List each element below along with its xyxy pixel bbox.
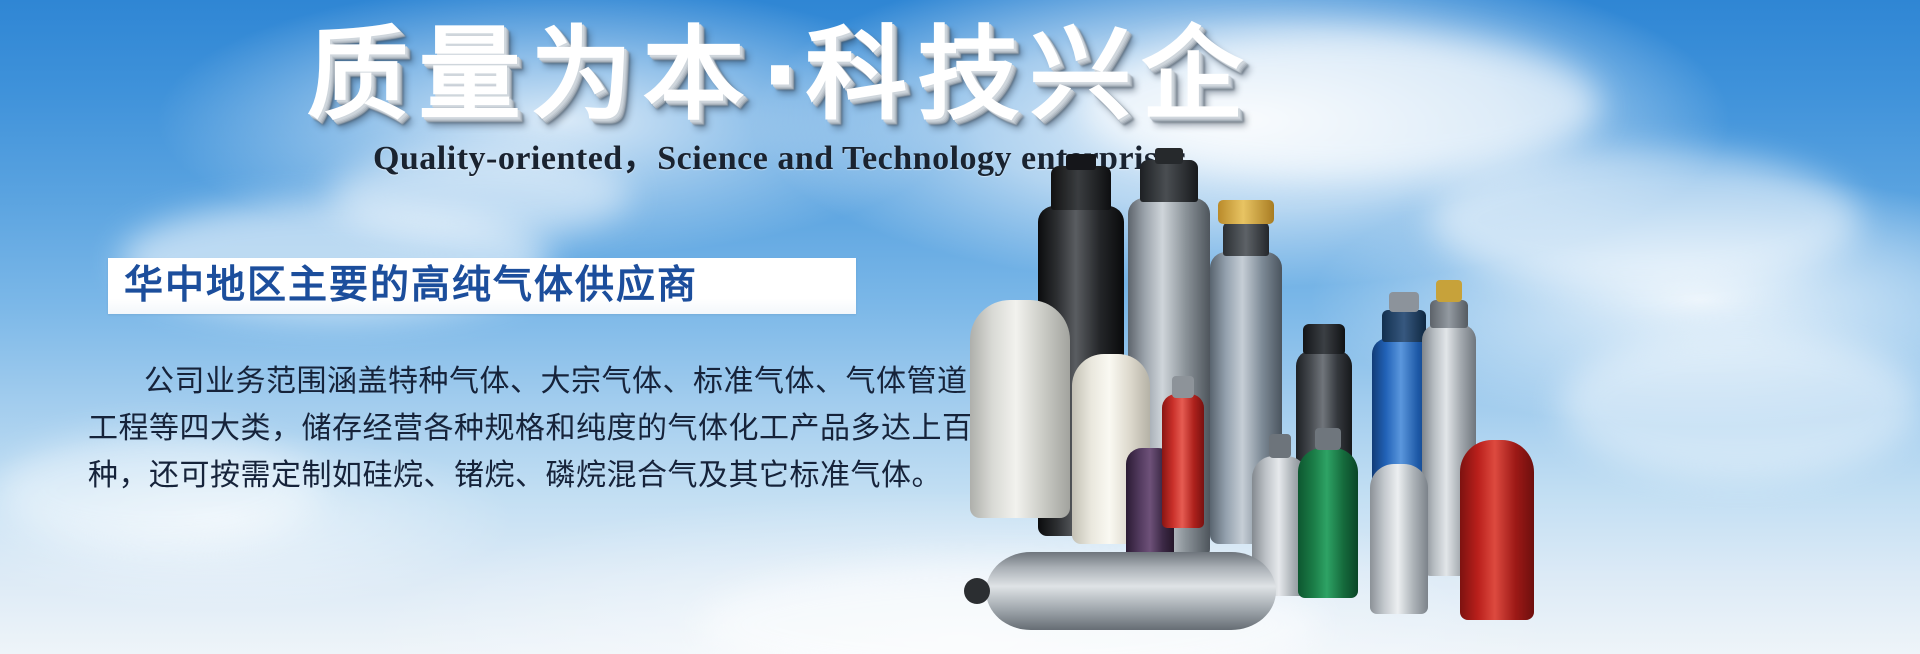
description-line-1: 公司业务范围涵盖特种气体、大宗气体、标准气体、气体管道 (88, 358, 868, 405)
tagline-box: 华中地区主要的高纯气体供应商 (108, 258, 856, 314)
cylinder-cap-icon (1382, 310, 1426, 342)
cylinder-red-small (1162, 394, 1204, 528)
banner-description: 公司业务范围涵盖特种气体、大宗气体、标准气体、气体管道 工程等四大类，储存经营各… (88, 358, 868, 499)
cylinder-green (1298, 448, 1358, 598)
cylinder-red-tall (1460, 440, 1534, 620)
cylinder-white-wide (970, 300, 1070, 518)
description-line-3: 种，还可按需定制如硅烷、锗烷、磷烷混合气及其它标准气体。 (88, 452, 868, 499)
tagline-text: 华中地区主要的高纯气体供应商 (108, 264, 698, 308)
cylinder-cap-icon (1140, 160, 1198, 202)
description-line-2: 工程等四大类，储存经营各种规格和纯度的气体化工产品多达上百 (88, 405, 868, 452)
cylinder-cap-icon (1303, 324, 1345, 354)
cylinder-lying-gray (986, 552, 1276, 630)
product-image-gas-cylinders (960, 0, 1920, 654)
cylinder-cap-icon (1051, 166, 1111, 210)
cylinder-cap-icon (1315, 428, 1341, 450)
cylinder-valve-icon (1223, 222, 1269, 256)
headline-part-1: 质量为本 (307, 16, 755, 135)
headline-separator-dot: · (755, 16, 806, 135)
cylinder-cap-icon (1430, 300, 1468, 328)
cylinder-cap-icon (1172, 376, 1194, 398)
cylinder-silver-front (1370, 464, 1428, 614)
hero-banner: 质量为本·科技兴企 Quality-oriented，Science and T… (0, 0, 1920, 654)
